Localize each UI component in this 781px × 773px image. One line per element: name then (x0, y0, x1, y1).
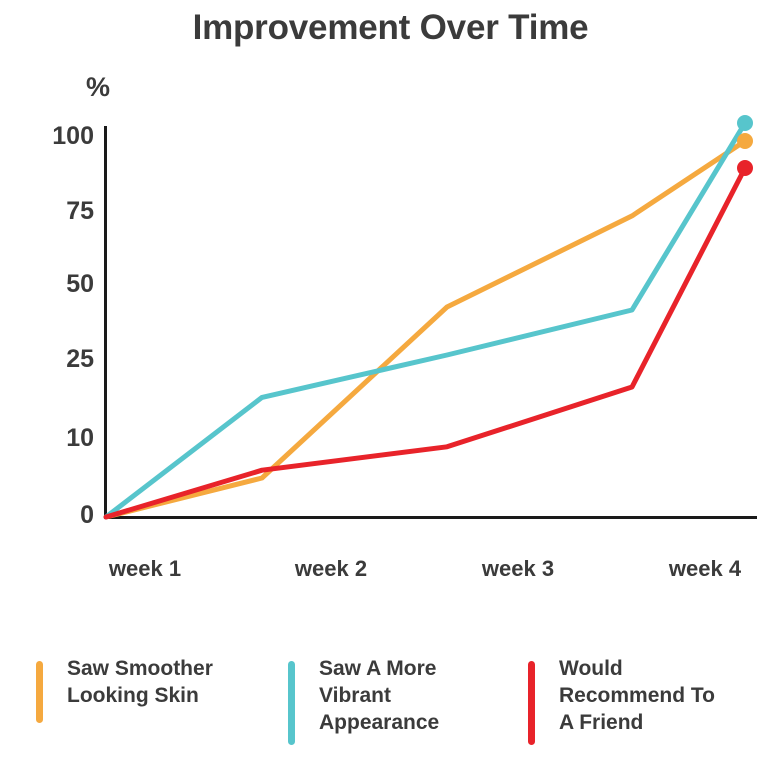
legend-color-swatch-teal (288, 661, 295, 745)
endpoint-dot-saw-a-more-vibrant-appearance (737, 115, 753, 131)
legend-item-saw-smoother-looking-skin[interactable]: Saw Smoother Looking Skin (36, 655, 213, 723)
x-tick-label-week-4: week 4 (625, 556, 781, 582)
y-tick-label-25: 25 (24, 345, 94, 374)
legend-label-saw-smoother-looking-skin: Saw Smoother Looking Skin (67, 655, 213, 709)
y-tick-label-50: 50 (24, 270, 94, 299)
legend-color-swatch-red (528, 661, 535, 745)
legend-item-saw-a-more-vibrant-appearance[interactable]: Saw A More Vibrant Appearance (288, 655, 439, 745)
legend-item-would-recommend-to-a-friend[interactable]: Would Recommend To A Friend (528, 655, 715, 745)
endpoint-dot-would-recommend-to-a-friend (737, 160, 753, 176)
legend-color-swatch-orange (36, 661, 43, 723)
endpoint-dot-saw-smoother-looking-skin (737, 133, 753, 149)
x-tick-label-week-2: week 2 (251, 556, 411, 582)
x-tick-label-week-1: week 1 (65, 556, 225, 582)
chart-container: Improvement Over Time % 100 75 50 25 (0, 0, 781, 773)
plot-svg (0, 0, 781, 620)
x-tick-label-week-3: week 3 (438, 556, 598, 582)
legend-label-would-recommend-to-a-friend: Would Recommend To A Friend (559, 655, 715, 736)
series-line-would-recommend-to-a-friend (106, 168, 745, 517)
y-tick-label-100: 100 (24, 122, 94, 151)
series-lines (106, 123, 745, 517)
series-endpoint-markers (737, 115, 753, 176)
y-tick-label-75: 75 (24, 197, 94, 226)
legend-label-saw-a-more-vibrant-appearance: Saw A More Vibrant Appearance (319, 655, 439, 736)
y-tick-label-0: 0 (24, 501, 94, 530)
chart-legend: Saw Smoother Looking Skin Saw A More Vib… (0, 655, 781, 770)
series-line-saw-smoother-looking-skin (106, 141, 745, 517)
plot-area: 100 75 50 25 10 0 week 1 week 2 week 3 w… (0, 0, 781, 620)
y-tick-label-10: 10 (24, 424, 94, 453)
series-line-saw-a-more-vibrant-appearance (106, 123, 745, 517)
